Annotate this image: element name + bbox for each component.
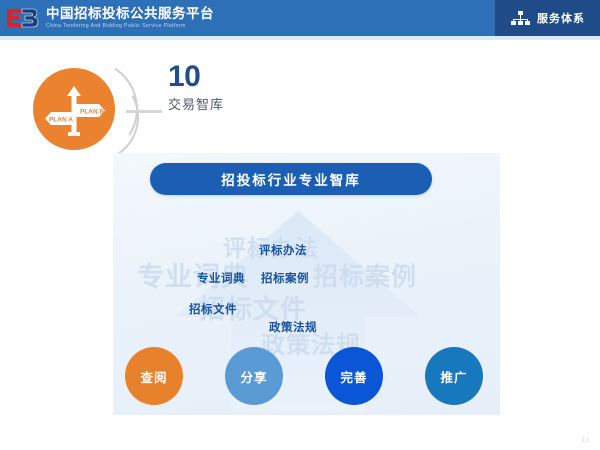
svg-text:PLAN B: PLAN B: [80, 109, 105, 116]
watermark-word: 招标案例: [313, 257, 417, 293]
page-number: 11: [582, 437, 590, 444]
brand-text: 中国招标投标公共服务平台 China Tendering And Bidding…: [46, 7, 214, 29]
action-circle-label: 分享: [240, 367, 267, 386]
content-panel: 招投标行业专业智库 评标办法 专业词典 招标案例 招标文件 政策法规 评标办法 …: [113, 153, 500, 415]
nav-service-system[interactable]: 服务体系: [495, 0, 600, 36]
section-number: 10: [168, 62, 200, 92]
action-circle-tuiguang[interactable]: 推广: [425, 347, 483, 405]
nav-service-system-label: 服务体系: [537, 10, 585, 26]
keyword-label: 专业词典: [197, 270, 245, 286]
keyword-label: 政策法规: [269, 319, 317, 335]
sitemap-icon: [510, 11, 530, 25]
brand-title-en: China Tendering And Bidding Public Servi…: [46, 24, 214, 29]
section-rule: [126, 110, 162, 113]
action-circle-label: 推广: [440, 367, 467, 386]
action-circle-label: 完善: [340, 367, 367, 386]
brand-title-cn: 中国招标投标公共服务平台: [46, 7, 214, 21]
section-title: 交易智库: [168, 94, 224, 113]
action-circle-wanshan[interactable]: 完善: [325, 347, 383, 405]
svg-text:PLAN A: PLAN A: [49, 117, 73, 124]
site-header: 中国招标投标公共服务平台 China Tendering And Bidding…: [0, 0, 600, 36]
action-circle-group: 查阅 分享 完善 推广: [113, 343, 500, 415]
keyword-label: 评标办法: [259, 242, 307, 258]
action-circle-label: 查阅: [140, 367, 167, 386]
eb-logo-icon: [6, 7, 40, 29]
keyword-label: 招标案例: [261, 270, 309, 286]
action-circle-fenxiang[interactable]: 分享: [225, 347, 283, 405]
header-underline: [0, 36, 600, 40]
panel-title: 招投标行业专业智库: [150, 163, 432, 195]
action-circle-chayue[interactable]: 查阅: [125, 347, 183, 405]
keyword-label: 招标文件: [189, 301, 237, 317]
signpost-icon: PLAN B PLAN A: [33, 68, 115, 150]
